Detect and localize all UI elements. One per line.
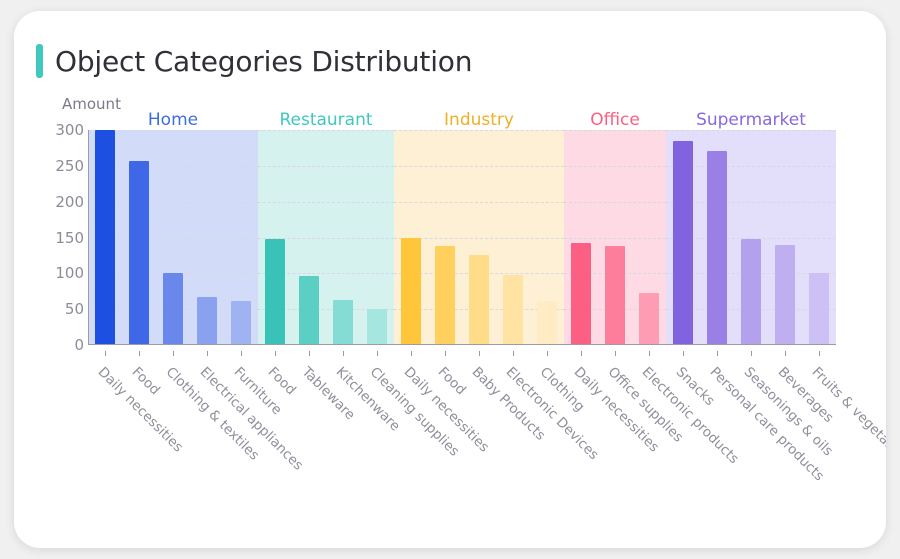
bar-slot[interactable]	[734, 130, 768, 345]
bar[interactable]	[163, 273, 183, 345]
bar-series	[88, 130, 836, 345]
bar-slot[interactable]	[190, 130, 224, 345]
bar-slot[interactable]	[258, 130, 292, 345]
bar[interactable]	[741, 239, 761, 345]
bar[interactable]	[605, 246, 625, 345]
bar-slot[interactable]	[88, 130, 122, 345]
bar[interactable]	[197, 297, 217, 345]
bar-slot[interactable]	[496, 130, 530, 345]
bar[interactable]	[809, 273, 829, 345]
group-label-supermarket: Supermarket	[666, 109, 836, 131]
y-axis-tick-label: 150	[55, 229, 84, 247]
title-accent-bar	[36, 44, 43, 78]
bar-slot[interactable]	[700, 130, 734, 345]
bar[interactable]	[367, 309, 387, 345]
bar-slot[interactable]	[292, 130, 326, 345]
x-axis-labels: Daily necessitiesFoodClothing & textiles…	[88, 356, 836, 546]
bar[interactable]	[95, 130, 115, 345]
x-axis-line	[88, 344, 836, 345]
bar[interactable]	[673, 141, 693, 345]
bar[interactable]	[129, 161, 149, 345]
chart-header: Object Categories Distribution	[36, 44, 472, 78]
bar[interactable]	[231, 301, 251, 345]
y-axis-tick-label: 200	[55, 193, 84, 211]
bar[interactable]	[503, 275, 523, 345]
bar-slot[interactable]	[428, 130, 462, 345]
bar-slot[interactable]	[632, 130, 666, 345]
y-axis: 300250200150100500	[44, 130, 84, 345]
bar-slot[interactable]	[360, 130, 394, 345]
bar[interactable]	[775, 245, 795, 345]
bar-slot[interactable]	[122, 130, 156, 345]
bar[interactable]	[401, 238, 421, 346]
bar[interactable]	[435, 246, 455, 345]
group-label-restaurant: Restaurant	[258, 109, 394, 131]
bar[interactable]	[265, 239, 285, 345]
plot-area	[88, 130, 836, 356]
group-label-row: HomeRestaurantIndustryOfficeSupermarket	[88, 109, 836, 131]
bar[interactable]	[469, 255, 489, 345]
bar[interactable]	[333, 300, 353, 345]
y-axis-tick-label: 100	[55, 264, 84, 282]
bar-slot[interactable]	[768, 130, 802, 345]
bar-slot[interactable]	[666, 130, 700, 345]
bar-slot[interactable]	[462, 130, 496, 345]
group-label-office: Office	[564, 109, 666, 131]
group-label-home: Home	[88, 109, 258, 131]
page-title: Object Categories Distribution	[55, 45, 472, 78]
bar-slot[interactable]	[156, 130, 190, 345]
y-axis-tick-label: 50	[65, 300, 84, 318]
bar[interactable]	[707, 151, 727, 345]
bar[interactable]	[571, 243, 591, 345]
bar-slot[interactable]	[802, 130, 836, 345]
group-label-industry: Industry	[394, 109, 564, 131]
bar[interactable]	[537, 301, 557, 345]
y-axis-tick-label: 0	[74, 336, 84, 354]
bar-slot[interactable]	[326, 130, 360, 345]
bar-slot[interactable]	[530, 130, 564, 345]
y-axis-tick-label: 250	[55, 157, 84, 175]
bar-slot[interactable]	[598, 130, 632, 345]
y-axis-tick-label: 300	[55, 121, 84, 139]
bar-slot[interactable]	[564, 130, 598, 345]
bar[interactable]	[639, 293, 659, 345]
chart-card: Object Categories Distribution Amount 30…	[14, 11, 886, 548]
bar[interactable]	[299, 276, 319, 345]
bar-slot[interactable]	[394, 130, 428, 345]
bar-slot[interactable]	[224, 130, 258, 345]
